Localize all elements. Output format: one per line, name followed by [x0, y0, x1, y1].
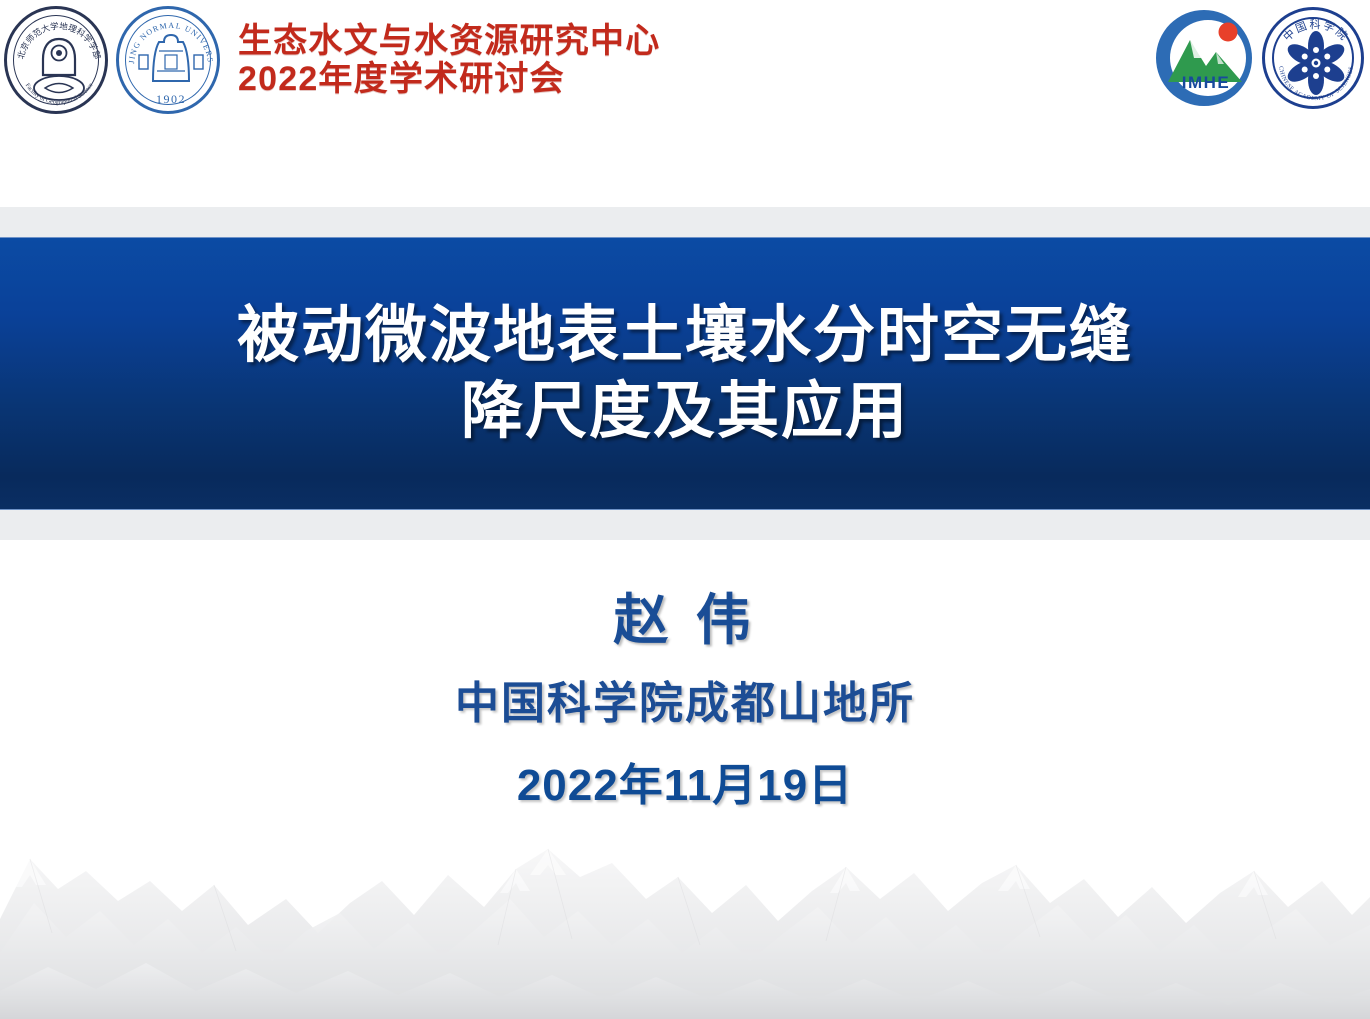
slide-title-line-2: 降尺度及其应用: [461, 374, 909, 450]
chinese-academy-of-sciences-logo: 中国科学院 CHINESE ACADEMY OF SCIENCES: [1262, 7, 1364, 109]
conference-title-line-2: 2022年度学术研讨会: [238, 60, 660, 98]
beijing-normal-university-logo: BEIJING NORMAL UNIVERSITY 1902: [116, 6, 220, 114]
banner-top-strip: [0, 207, 1370, 237]
conference-title-line-1: 生态水文与水资源研究中心: [238, 22, 660, 60]
presentation-date: 2022年11月19日: [0, 762, 1370, 810]
header-right-logo-group: IMHE 中国科学院 CHINESE ACADEMY OF SCIENCES: [1150, 4, 1364, 112]
bnu-faculty-of-geographical-science-logo: 北京师范大学地理科学学部 Faculty of Geographical Sci…: [4, 6, 108, 114]
banner-bottom-strip: [0, 510, 1370, 540]
slide-title-line-1: 被动微波地表土壤水分时空无缝: [237, 298, 1133, 374]
mountain-range-decoration: [0, 841, 1370, 1019]
presenter-name: 赵 伟: [0, 592, 1370, 650]
slide-title-banner: 被动微波地表土壤水分时空无缝 降尺度及其应用: [0, 237, 1370, 510]
seal-inner-ring: [1272, 17, 1354, 99]
title-slide: 北京师范大学地理科学学部 Faculty of Geographical Sci…: [0, 0, 1370, 1019]
seal-inner-ring: [125, 15, 211, 105]
seal-inner-ring: [13, 15, 99, 105]
conference-title: 生态水文与水资源研究中心 2022年度学术研讨会: [238, 22, 660, 98]
svg-text:IMHE: IMHE: [1182, 73, 1231, 92]
slide-header: 北京师范大学地理科学学部 Faculty of Geographical Sci…: [0, 0, 1370, 125]
presenter-affiliation: 中国科学院成都山地所: [0, 680, 1370, 728]
header-left-logo-group: 北京师范大学地理科学学部 Faculty of Geographical Sci…: [4, 6, 220, 114]
presenter-block: 赵 伟 中国科学院成都山地所 2022年11月19日: [0, 592, 1370, 811]
imhe-logo: IMHE: [1150, 4, 1258, 112]
